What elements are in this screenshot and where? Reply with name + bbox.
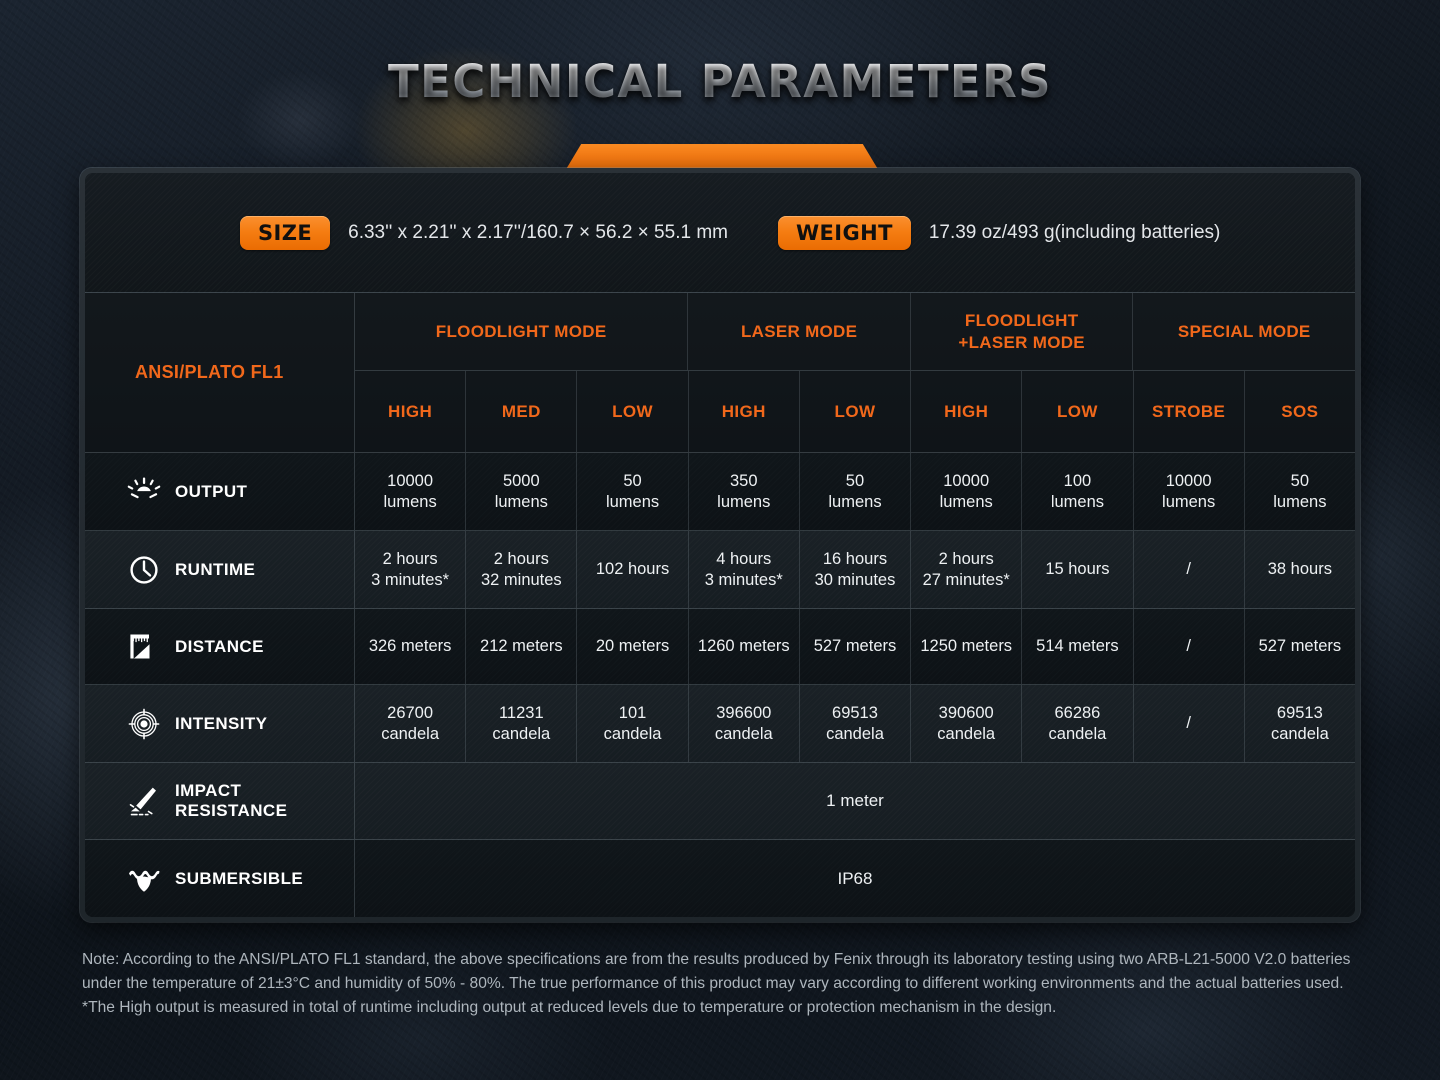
water-drop-icon — [127, 865, 161, 893]
page-title: TECHNICAL PARAMETERS — [0, 55, 1440, 108]
cell-3-8: / — [1134, 609, 1245, 684]
row-label-text: RUNTIME — [175, 560, 255, 580]
specs-panel: SIZE 6.33'' x 2.21'' x 2.17''/160.7 × 56… — [80, 168, 1360, 922]
sunburst-icon — [127, 477, 161, 507]
cell-3-7: 514 meters — [1022, 609, 1133, 684]
full-row-value-2: IP68 — [355, 840, 1355, 917]
weight-label: WEIGHT — [778, 216, 911, 250]
level-header-3: LOW — [577, 371, 688, 452]
table-row: IMPACT RESISTANCE1 meter — [85, 763, 1355, 840]
ruler-beam-icon — [127, 632, 161, 662]
cell-1-3: 50 lumens — [577, 453, 688, 530]
row-label-output: OUTPUT — [85, 453, 355, 530]
table-body: OUTPUT10000 lumens5000 lumens50 lumens35… — [85, 453, 1355, 917]
level-header-2: MED — [466, 371, 577, 452]
cell-1-4: 350 lumens — [689, 453, 800, 530]
impact-icon — [127, 785, 161, 817]
cell-2-8: / — [1134, 531, 1245, 608]
weight-group: WEIGHT 17.39 oz/493 g(including batterie… — [778, 216, 1220, 250]
cell-3-2: 212 meters — [466, 609, 577, 684]
size-weight-strip: SIZE 6.33'' x 2.21'' x 2.17''/160.7 × 56… — [85, 173, 1355, 293]
cell-1-1: 10000 lumens — [355, 453, 466, 530]
cell-2-1: 2 hours 3 minutes* — [355, 531, 466, 608]
cell-1-7: 100 lumens — [1022, 453, 1133, 530]
cell-3-9: 527 meters — [1245, 609, 1355, 684]
size-label: SIZE — [240, 216, 330, 250]
cell-4-8: / — [1134, 685, 1245, 762]
cell-1-5: 50 lumens — [800, 453, 911, 530]
footnote-line-1: Note: According to the ANSI/PLATO FL1 st… — [82, 948, 1372, 996]
cell-1-8: 10000 lumens — [1134, 453, 1245, 530]
cell-1-6: 10000 lumens — [911, 453, 1022, 530]
level-header-7: LOW — [1022, 371, 1133, 452]
cell-2-2: 2 hours 32 minutes — [466, 531, 577, 608]
row-label-text: DISTANCE — [175, 637, 264, 657]
level-header-6: HIGH — [911, 371, 1022, 452]
table-header: ANSI/PLATO FL1 FLOODLIGHT MODELASER MODE… — [85, 293, 1355, 453]
cell-4-9: 69513 candela — [1245, 685, 1355, 762]
standard-label: ANSI/PLATO FL1 — [85, 293, 355, 452]
cell-2-7: 15 hours — [1022, 531, 1133, 608]
level-header-5: LOW — [800, 371, 911, 452]
cell-4-4: 396600 candela — [689, 685, 800, 762]
footnote-line-2: *The High output is measured in total of… — [82, 996, 1372, 1020]
mode-header-3: FLOODLIGHT +LASER MODE — [911, 293, 1134, 370]
mode-header-2: LASER MODE — [688, 293, 911, 370]
table-row: RUNTIME2 hours 3 minutes*2 hours 32 minu… — [85, 531, 1355, 609]
cell-1-2: 5000 lumens — [466, 453, 577, 530]
cell-4-1: 26700 candela — [355, 685, 466, 762]
level-header-8: STROBE — [1134, 371, 1245, 452]
row-label-submersible: SUBMERSIBLE — [85, 840, 355, 917]
level-header-1: HIGH — [355, 371, 466, 452]
mode-header-row: FLOODLIGHT MODELASER MODEFLOODLIGHT +LAS… — [355, 293, 1355, 371]
table-row: INTENSITY26700 candela11231 candela101 c… — [85, 685, 1355, 763]
cell-3-4: 1260 meters — [689, 609, 800, 684]
mode-header-4: SPECIAL MODE — [1133, 293, 1355, 370]
full-row-value-1: 1 meter — [355, 763, 1355, 839]
level-header-9: SOS — [1245, 371, 1355, 452]
row-label-runtime: RUNTIME — [85, 531, 355, 608]
cell-4-5: 69513 candela — [800, 685, 911, 762]
cell-4-3: 101 candela — [577, 685, 688, 762]
row-label-text: IMPACT RESISTANCE — [175, 781, 287, 821]
row-label-intensity: INTENSITY — [85, 685, 355, 762]
specs-table: ANSI/PLATO FL1 FLOODLIGHT MODELASER MODE… — [85, 293, 1355, 917]
cell-4-6: 390600 candela — [911, 685, 1022, 762]
weight-value: 17.39 oz/493 g(including batteries) — [929, 222, 1221, 244]
cell-1-9: 50 lumens — [1245, 453, 1355, 530]
cell-2-3: 102 hours — [577, 531, 688, 608]
size-value: 6.33'' x 2.21'' x 2.17''/160.7 × 56.2 × … — [348, 222, 728, 244]
cell-4-7: 66286 candela — [1022, 685, 1133, 762]
cell-3-5: 527 meters — [800, 609, 911, 684]
row-label-text: INTENSITY — [175, 714, 267, 734]
table-row: DISTANCE326 meters212 meters20 meters126… — [85, 609, 1355, 685]
cell-4-2: 11231 candela — [466, 685, 577, 762]
level-header-4: HIGH — [689, 371, 800, 452]
mode-header-1: FLOODLIGHT MODE — [355, 293, 688, 370]
cell-2-4: 4 hours 3 minutes* — [689, 531, 800, 608]
cell-3-3: 20 meters — [577, 609, 688, 684]
clock-icon — [127, 555, 161, 585]
cell-2-6: 2 hours 27 minutes* — [911, 531, 1022, 608]
cell-2-5: 16 hours 30 minutes — [800, 531, 911, 608]
cell-3-6: 1250 meters — [911, 609, 1022, 684]
row-label-distance: DISTANCE — [85, 609, 355, 684]
cell-2-9: 38 hours — [1245, 531, 1355, 608]
row-label-impact-resistance: IMPACT RESISTANCE — [85, 763, 355, 839]
footnote: Note: According to the ANSI/PLATO FL1 st… — [82, 948, 1372, 1020]
level-header-row: HIGHMEDLOWHIGHLOWHIGHLOWSTROBESOS — [355, 371, 1355, 452]
target-icon — [127, 708, 161, 740]
cell-3-1: 326 meters — [355, 609, 466, 684]
table-row: OUTPUT10000 lumens5000 lumens50 lumens35… — [85, 453, 1355, 531]
row-label-text: SUBMERSIBLE — [175, 869, 303, 889]
row-label-text: OUTPUT — [175, 482, 247, 502]
table-row: SUBMERSIBLEIP68 — [85, 840, 1355, 917]
